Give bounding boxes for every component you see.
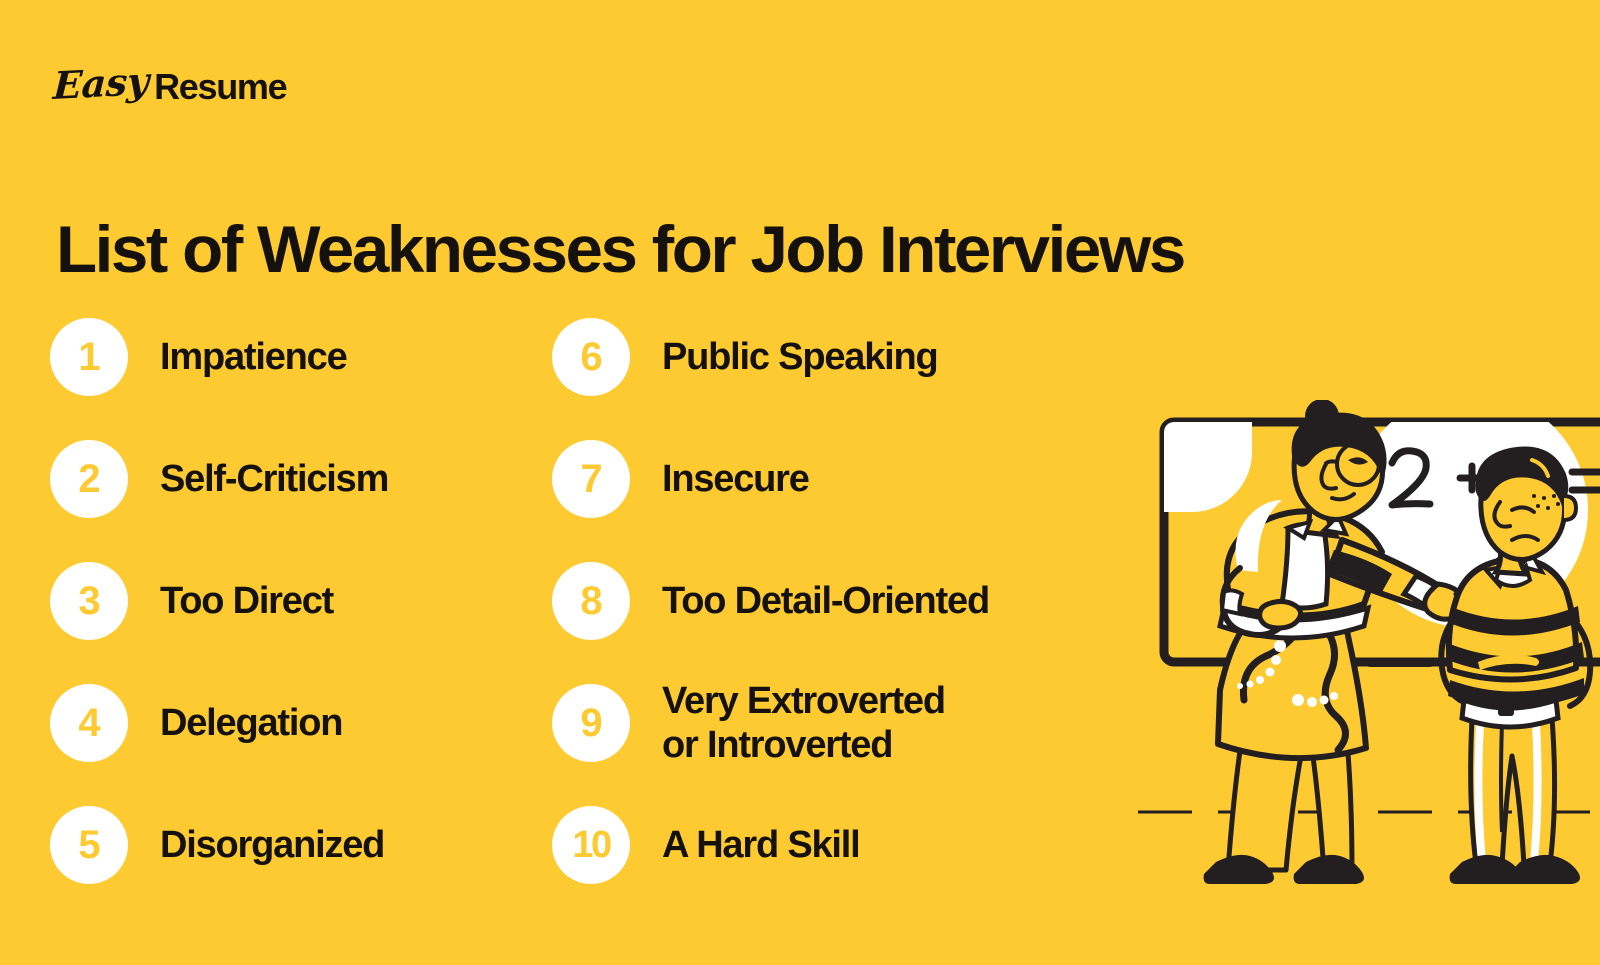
list-item-number-badge: 10 [552, 806, 630, 884]
list-item-label: Disorganized [160, 823, 384, 867]
list-item-number-badge: 1 [50, 318, 128, 396]
list-item-label: Very Extroverted or Introverted [662, 679, 945, 767]
list-item: 9 Very Extroverted or Introverted [552, 684, 1152, 762]
list-item: 2 Self-Criticism [50, 440, 520, 518]
list-item-label: Impatience [160, 335, 347, 379]
teacher-hair-bun [1305, 400, 1339, 433]
list-item-number-badge: 7 [552, 440, 630, 518]
weakness-list-right-column: 6 Public Speaking 7 Insecure 8 Too Detai… [552, 318, 1152, 928]
page-title: List of Weaknesses for Job Interviews [56, 212, 1184, 286]
teacher-hand-on-hip [1260, 601, 1301, 628]
list-item: 8 Too Detail-Oriented [552, 562, 1152, 640]
list-item: 7 Insecure [552, 440, 1152, 518]
list-item-label: Delegation [160, 701, 342, 745]
list-item-number-badge: 9 [552, 684, 630, 762]
logo-bold-word: Resume [154, 66, 286, 108]
list-item-number-badge: 8 [552, 562, 630, 640]
student-shoe-right [1508, 855, 1580, 884]
list-item-number-badge: 4 [50, 684, 128, 762]
list-item: 6 Public Speaking [552, 318, 1152, 396]
brand-logo: Easy Resume [52, 63, 286, 108]
logo-script-word: Easy [52, 58, 157, 108]
list-item: 3 Too Direct [50, 562, 520, 640]
infographic-canvas: Easy Resume List of Weaknesses for Job I… [0, 0, 1600, 965]
list-item-number-badge: 5 [50, 806, 128, 884]
list-item-number-badge: 3 [50, 562, 128, 640]
list-item-label: Too Direct [160, 579, 333, 623]
classroom-illustration [1120, 400, 1600, 900]
list-item-label: A Hard Skill [662, 823, 859, 867]
list-item-number-badge: 2 [50, 440, 128, 518]
list-item-label: Self-Criticism [160, 457, 388, 501]
list-item: 10 A Hard Skill [552, 806, 1152, 884]
list-item: 5 Disorganized [50, 806, 520, 884]
list-item-label: Public Speaking [662, 335, 938, 379]
list-item-number-badge: 6 [552, 318, 630, 396]
list-item-label: Insecure [662, 457, 809, 501]
list-item: 4 Delegation [50, 684, 520, 762]
weakness-list-left-column: 1 Impatience 2 Self-Criticism 3 Too Dire… [50, 318, 520, 928]
list-item-label: Too Detail-Oriented [662, 579, 989, 623]
list-item: 1 Impatience [50, 318, 520, 396]
